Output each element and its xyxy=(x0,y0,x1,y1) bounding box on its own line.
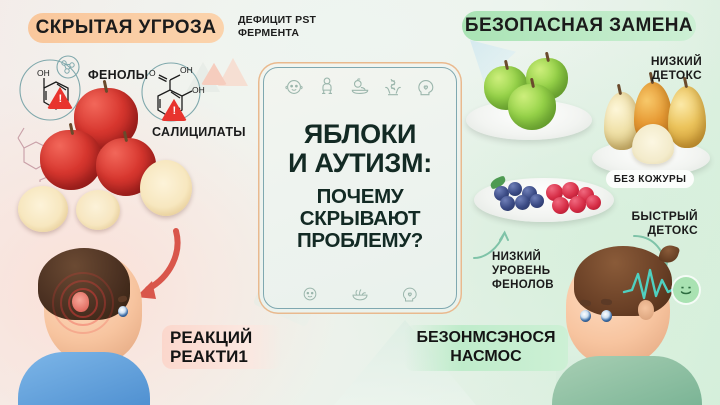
fast-detox-line-1: БЫСТРЫЙ xyxy=(631,209,698,223)
salicylate-oh-label-1: OH xyxy=(180,65,193,75)
safe-replacement-badge: БЕЗОПАСНАЯ ЗАМЕНА xyxy=(462,11,696,41)
reaction-text-block: РЕАКЦИЙ РЕАКТИ1 xyxy=(162,325,282,369)
fruit-platter-icon xyxy=(349,76,371,98)
green-apple-front xyxy=(508,84,556,130)
head-heart-icon xyxy=(415,76,437,98)
red-apple-half-1 xyxy=(140,160,192,216)
title-line-2: И АУТИЗМ: xyxy=(258,149,462,178)
hidden-threat-badge: СКРЫТАЯ УГРОЗА xyxy=(28,13,224,43)
boy-left-shirt xyxy=(18,352,150,405)
phenols-label: ФЕНОЛЫ xyxy=(88,68,148,82)
boy-right-eyebrow-2 xyxy=(601,299,612,306)
boy-right-eye-1 xyxy=(580,310,591,322)
reaction-line-1: РЕАКЦИЙ xyxy=(170,328,252,347)
blueberry xyxy=(530,194,544,208)
no-peel-badge: БЕЗ КОЖУРЫ xyxy=(606,170,694,188)
salicylates-label: САЛИЦИЛАТЫ xyxy=(152,125,246,139)
pear-half xyxy=(632,124,674,164)
hands-dna-icon xyxy=(382,76,404,98)
red-apple-half-3 xyxy=(76,190,120,230)
arrow-to-berries-icon xyxy=(470,218,560,262)
safe-line-1: БЕЗОНМСЭНОСЯ xyxy=(416,329,555,348)
pear-yellow xyxy=(668,86,706,148)
pst-note-line-2: ФЕРМЕНТА xyxy=(238,27,348,40)
toddler-icon xyxy=(316,76,338,98)
low-detox-label: НИЗКИЙ ДЕТОКС xyxy=(651,54,702,83)
red-apple-half-2 xyxy=(18,186,68,232)
page-title: ЯБЛОКИ И АУТИЗМ: ПОЧЕМУ СКРЫВАЮТ ПРОБЛЕМ… xyxy=(258,120,462,251)
pst-note-line-1: ДЕФИЦИТ PST xyxy=(238,14,348,27)
baby-face-icon xyxy=(300,284,320,304)
raspberry xyxy=(586,195,601,210)
smiley-badge-icon xyxy=(673,277,699,303)
bottom-icon-row xyxy=(258,284,462,304)
blueberry xyxy=(515,195,530,210)
boy-right-shirt xyxy=(552,356,702,405)
boy-left-eye xyxy=(118,306,128,317)
salicylate-oh-label-2: OH xyxy=(192,85,205,95)
boy-right-eye-2 xyxy=(601,310,612,322)
blueberry xyxy=(508,182,522,196)
raspberry xyxy=(569,196,586,213)
reaction-line-2: РЕАКТИ1 xyxy=(170,347,248,366)
pst-enzyme-deficiency-note: ДЕФИЦИТ PST ФЕРМЕНТА xyxy=(238,14,348,40)
title-line-3: ПОЧЕМУ СКРЫВАЮТ xyxy=(258,186,462,229)
boy-left-ear xyxy=(72,292,89,312)
top-icon-row xyxy=(258,76,462,98)
blueberry xyxy=(500,196,515,211)
main-title-card: ЯБЛОКИ И АУТИЗМ: ПОЧЕМУ СКРЫВАЮТ ПРОБЛЕМ… xyxy=(258,62,462,314)
head-heart-icon xyxy=(400,284,420,304)
baby-face-icon xyxy=(283,76,305,98)
safe-line-2: НАСМОС xyxy=(450,348,521,367)
title-line-4: ПРОБЛЕМУ? xyxy=(258,230,462,252)
salicylate-o-label: O xyxy=(149,68,156,78)
safe-text-block: БЕЗОНМСЭНОСЯ НАСМОС xyxy=(404,325,568,371)
phenol-oh-label: OH xyxy=(37,68,50,78)
infographic-poster: СКРЫТАЯ УГРОЗА БЕЗОПАСНАЯ ЗАМЕНА ДЕФИЦИТ… xyxy=(0,0,720,405)
title-line-1: ЯБЛОКИ xyxy=(258,120,462,149)
raspberry xyxy=(552,197,569,214)
low-detox-line-2: ДЕТОКС xyxy=(651,68,702,82)
low-phenols-line-2: УРОВЕНЬ xyxy=(492,264,554,278)
red-apple-left xyxy=(40,130,102,190)
salad-bowl-icon xyxy=(350,284,370,304)
low-phenols-line-3: ФЕНОЛОВ xyxy=(492,278,554,292)
low-detox-line-1: НИЗКИЙ xyxy=(651,54,702,68)
